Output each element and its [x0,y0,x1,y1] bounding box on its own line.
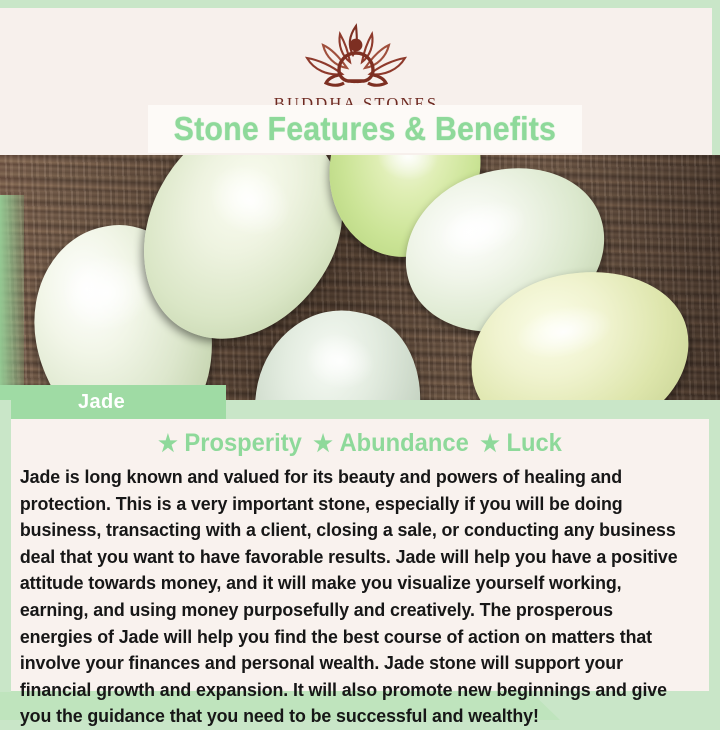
keyword-luck: ★ Luck [480,429,562,458]
star-icon: ★ [480,432,500,455]
description-text: Jade is long known and valued for its be… [11,458,699,730]
content-panel: ★ Prosperity ★ Abundance ★ Luck Jade is … [11,419,709,691]
keyword-label: Prosperity [184,429,301,458]
stone-name-label: Jade [78,391,125,414]
keyword-row: ★ Prosperity ★ Abundance ★ Luck [28,419,691,458]
keyword-prosperity: ★ Prosperity [158,429,302,458]
star-icon: ★ [313,432,333,455]
stone-name-banner: Jade [0,385,226,419]
lotus-meditation-icon [290,18,422,90]
stone-photo [0,155,720,400]
infographic-page: BUDDHA STONES Stone Features & Benefits … [0,0,720,720]
title-banner: Stone Features & Benefits [148,105,582,153]
photo-left-wash [0,195,24,400]
keyword-label: Luck [506,429,561,458]
page-title: Stone Features & Benefits [174,110,557,148]
left-green-stripe [0,400,11,692]
top-green-stripe [0,0,720,8]
keyword-abundance: ★ Abundance [313,429,469,458]
star-icon: ★ [158,432,178,455]
keyword-label: Abundance [339,429,468,458]
right-green-stripe [712,0,720,155]
